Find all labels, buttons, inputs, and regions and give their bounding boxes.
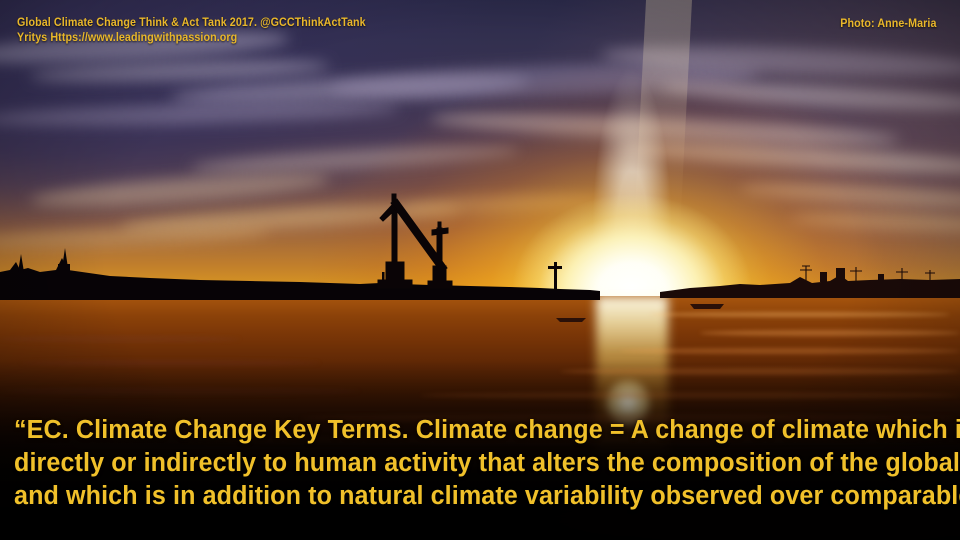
header-line-2: Yritys Https://www.leadingwithpassion.or… <box>17 31 366 46</box>
header-attribution: Global Climate Change Think & Act Tank 2… <box>17 16 392 46</box>
slide-canvas: Global Climate Change Think & Act Tank 2… <box>0 0 960 540</box>
quote-caption: “EC. Climate Change Key Terms. Climate c… <box>0 414 960 513</box>
quote-line-3: and which is in addition to natural clim… <box>14 480 932 513</box>
sun-ray-upper <box>634 0 692 230</box>
quote-line-2: directly or indirectly to human activity… <box>14 447 932 480</box>
header-line-1: Global Climate Change Think & Act Tank 2… <box>17 16 366 31</box>
quote-line-1: “EC. Climate Change Key Terms. Climate c… <box>14 414 932 447</box>
photo-credit: Photo: Anne-Maria <box>840 18 936 30</box>
sun-light-pillar <box>592 0 672 330</box>
